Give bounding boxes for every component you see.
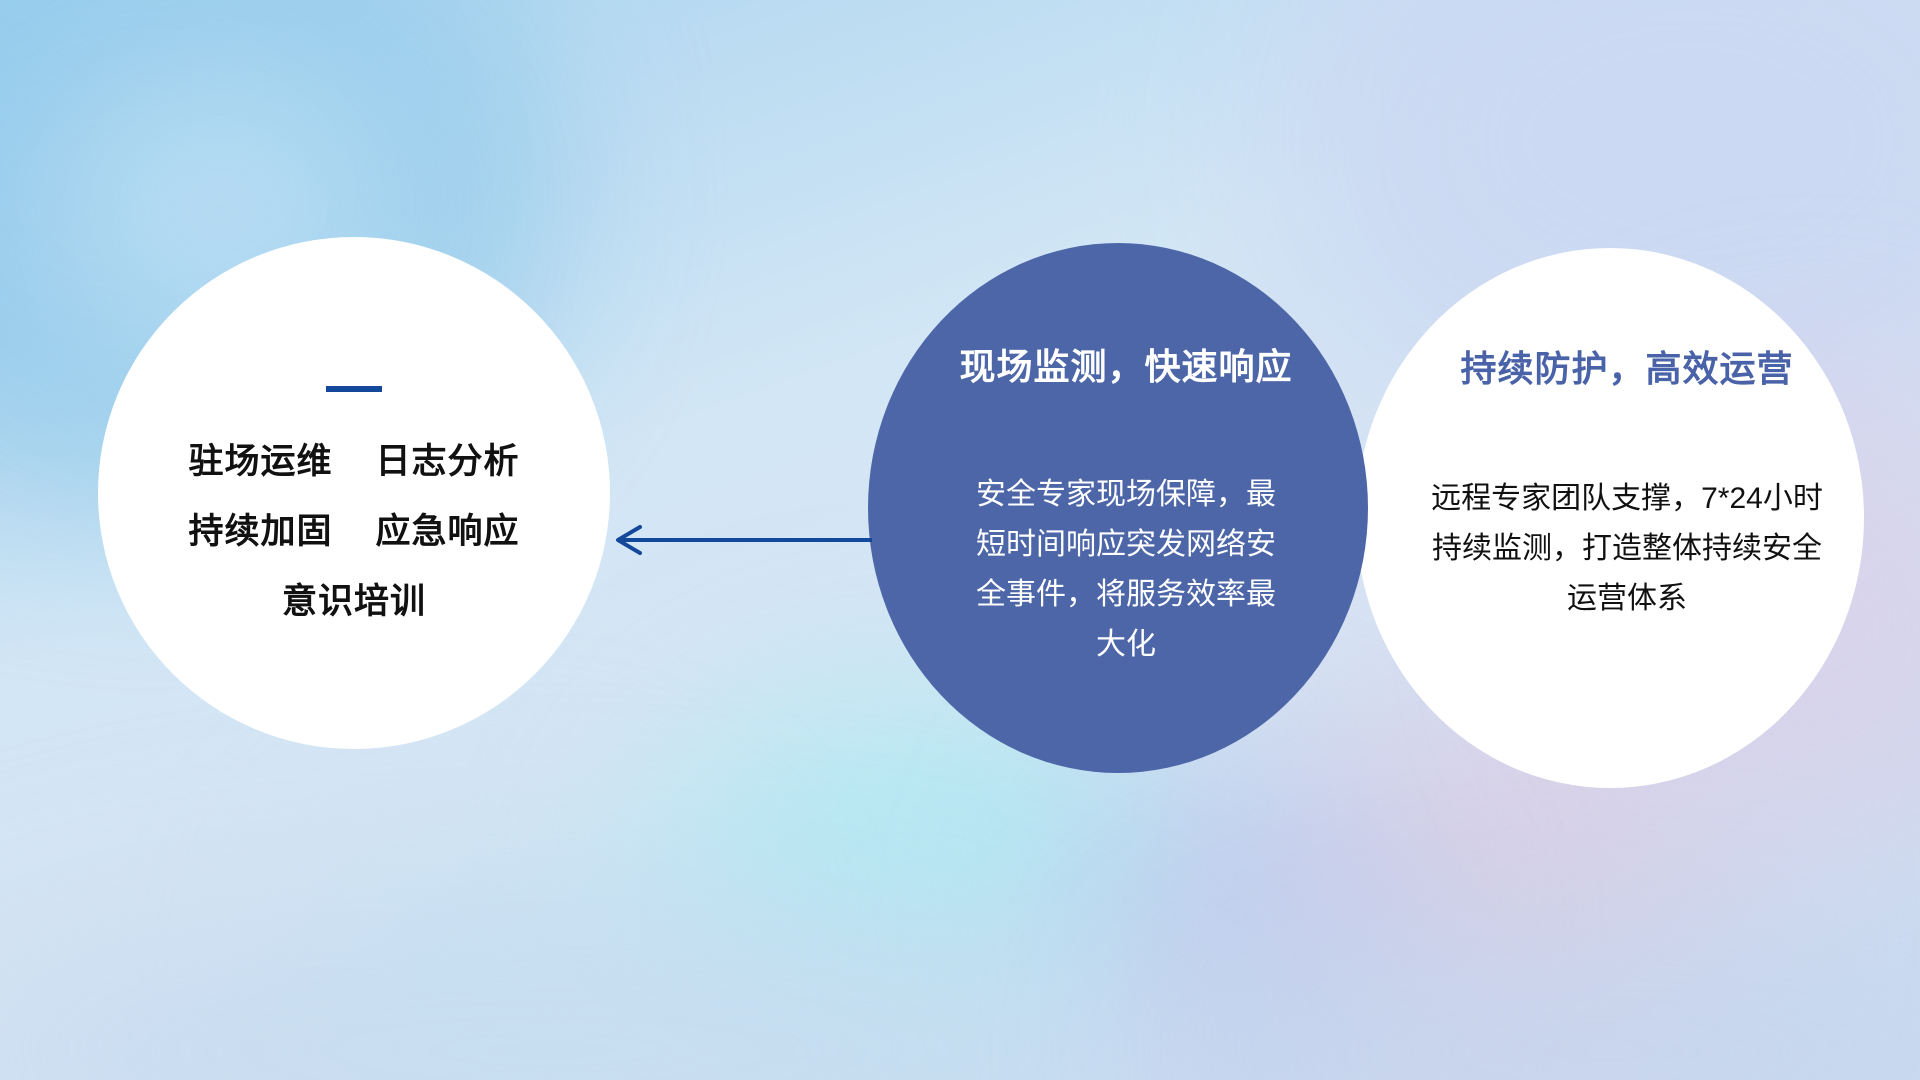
middle-circle-title: 现场监测，快速响应 (959, 338, 1292, 390)
slide-canvas: 驻场运维 日志分析 持续加固 应急响应 意识培训 现场监测，快速响应 安全专家现… (0, 0, 1920, 1080)
left-circle-line-1: 驻场运维 日志分析 (189, 444, 520, 479)
right-circle-content: 持续防护，高效运营 远程专家团队支撑，7*24小时持续监测，打造整体持续安全运营… (1356, 248, 1864, 788)
left-circle-line-2: 持续加固 应急响应 (189, 514, 520, 549)
middle-circle-content: 现场监测，快速响应 安全专家现场保障，最短时间响应突发网络安全事件，将服务效率最… (868, 243, 1368, 773)
divider-dash (326, 386, 382, 392)
middle-circle-body: 安全专家现场保障，最短时间响应突发网络安全事件，将服务效率最大化 (971, 470, 1281, 670)
right-circle-body: 远程专家团队支撑，7*24小时持续监测，打造整体持续安全运营体系 (1427, 474, 1827, 624)
left-circle-content: 驻场运维 日志分析 持续加固 应急响应 意识培训 (98, 237, 610, 749)
right-circle-title: 持续防护，高效运营 (1460, 340, 1793, 392)
left-circle-line-3: 意识培训 (282, 584, 426, 619)
left-pointing-arrow-icon (600, 520, 880, 560)
